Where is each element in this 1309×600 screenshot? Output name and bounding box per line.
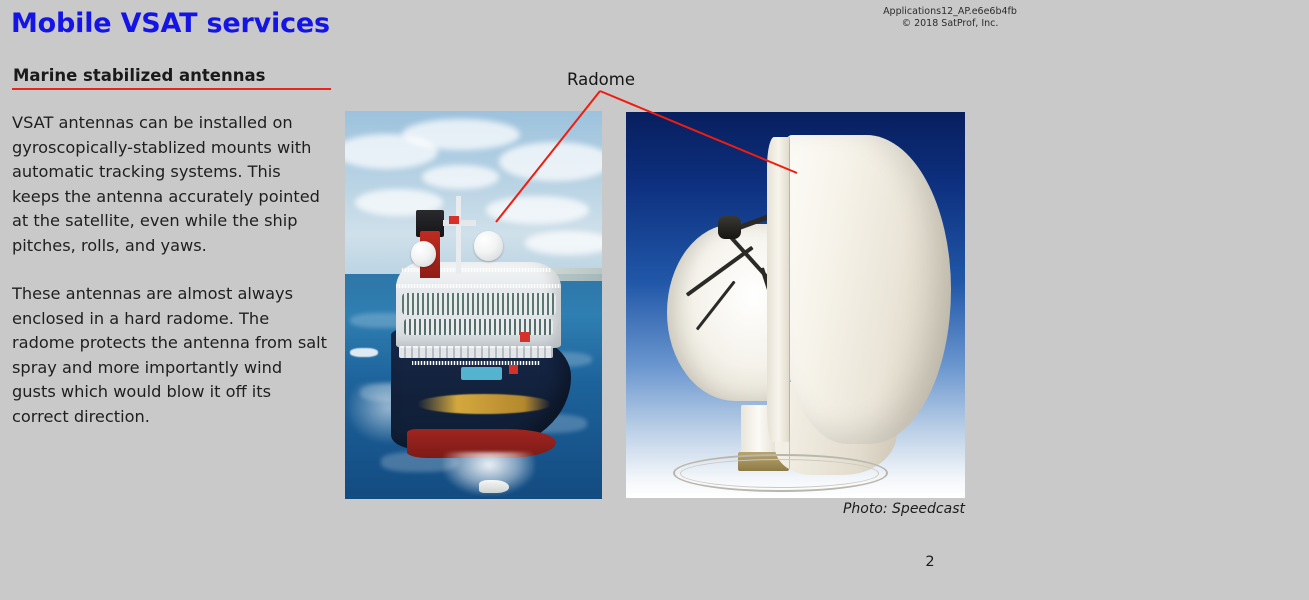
ship-radome-left [411,241,437,267]
deck-window-band [402,293,556,315]
radome-cutaway-photo [626,112,965,498]
body-paragraph-1: VSAT antennas can be installed on gyrosc… [12,111,330,258]
page-number: 2 [905,554,955,570]
small-boat [350,348,378,357]
slide-canvas: Applications12_AP.e6e6b4fb © 2018 SatPro… [0,0,1309,600]
deck-railing [396,284,560,288]
deck-window-band [404,319,553,335]
radome-callout-label: Radome [567,70,635,89]
ship-flag [449,216,459,225]
lifeboat-row [399,346,553,358]
cloud-shape [525,231,602,254]
section-subheading: Marine stabilized antennas [13,66,265,85]
deck-railing [412,361,541,365]
ship-radome-right [474,231,504,260]
cloud-shape [402,119,520,150]
subheading-underline [12,88,331,90]
ship-mast [456,196,461,274]
tender-boat [479,480,510,494]
body-paragraph-2: These antennas are almost always enclose… [12,282,330,429]
radome-cut-face [767,137,791,442]
feed-horn [718,216,742,239]
cruise-ship-photo [345,111,602,499]
document-id: Applications12_AP.e6e6b4fb [760,6,1140,18]
page-title: Mobile VSAT services [11,8,330,39]
radome-shell [782,135,952,444]
cloud-shape [486,196,589,223]
radome-seam [789,137,790,469]
ship-flag [509,365,518,374]
mast-crossarm [443,220,476,226]
cloud-shape [422,165,499,188]
ship-flag [520,332,530,342]
photo-credit: Photo: Speedcast [760,501,965,517]
cloud-shape [499,142,602,181]
ship-pool [461,367,502,380]
copyright-notice: © 2018 SatProf, Inc. [760,18,1140,30]
hull-gold-trim [417,394,551,413]
document-meta: Applications12_AP.e6e6b4fb © 2018 SatPro… [760,6,1140,30]
